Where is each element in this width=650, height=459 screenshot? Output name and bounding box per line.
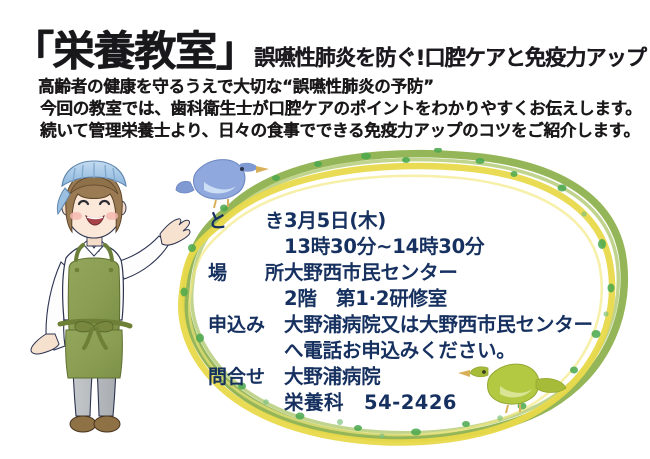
- detail-value-application-cont: へ電話お申込みください。: [208, 338, 648, 364]
- detail-value-application: 大野浦病院又は大野西市民センター: [284, 312, 593, 338]
- detail-label-place-b: 所: [265, 260, 284, 286]
- detail-row-contact: 問合せ 大野浦病院: [208, 364, 648, 390]
- event-details: と き 3月5日(木) 13時30分~14時30分 場 所 大野西市民センター …: [208, 208, 648, 416]
- detail-row-date: と き 3月5日(木): [208, 208, 648, 234]
- detail-label-date-a: と: [208, 208, 227, 234]
- poster-header: 「栄養教室」 誤嚥性肺炎を防ぐ!口腔ケアと免疫力アップ: [0, 14, 650, 72]
- detail-label-place: 場 所: [208, 260, 284, 286]
- lead-line-3: 続いて管理栄養士より、日々の食事でできる免疫力アップのコツをご紹介します。: [38, 120, 638, 142]
- detail-label-contact: 問合せ: [208, 364, 284, 390]
- detail-value-time: 13時30分~14時30分: [208, 234, 648, 260]
- detail-label-application-a: 申込み: [208, 312, 265, 338]
- detail-label-date-b: き: [265, 208, 284, 234]
- detail-value-date: 3月5日(木): [284, 208, 386, 234]
- poster-canvas: 「栄養教室」 誤嚥性肺炎を防ぐ!口腔ケアと免疫力アップ 高齢者の健康を守るうえで…: [0, 0, 650, 459]
- detail-label-contact-a: 問合せ: [208, 364, 265, 390]
- lead-line-2: 今回の教室では、歯科衛生士が口腔ケアのポイントをわかりやすくお伝えします。: [38, 98, 638, 120]
- lead-line-1: 高齢者の健康を守るうえで大切な“誤嚥性肺炎の予防”: [38, 76, 638, 98]
- detail-label-application: 申込み: [208, 312, 284, 338]
- detail-row-place: 場 所 大野西市民センター: [208, 260, 648, 286]
- page-subtitle: 誤嚥性肺炎を防ぐ!口腔ケアと免疫力アップ: [254, 48, 646, 73]
- detail-label-date: と き: [208, 208, 284, 234]
- detail-row-application: 申込み 大野浦病院又は大野西市民センター: [208, 312, 648, 338]
- detail-value-place: 大野西市民センター: [284, 260, 458, 286]
- detail-value-room: 2階 第1·2研修室: [208, 286, 648, 312]
- page-title: 「栄養教室」: [12, 31, 257, 72]
- detail-value-phone: 栄養科 54-2426: [208, 390, 648, 416]
- detail-value-contact: 大野浦病院: [284, 364, 381, 390]
- detail-label-place-a: 場: [208, 260, 227, 286]
- lead-paragraph: 高齢者の健康を守るうえで大切な“誤嚥性肺炎の予防” 今回の教室では、歯科衛生士が…: [38, 76, 638, 142]
